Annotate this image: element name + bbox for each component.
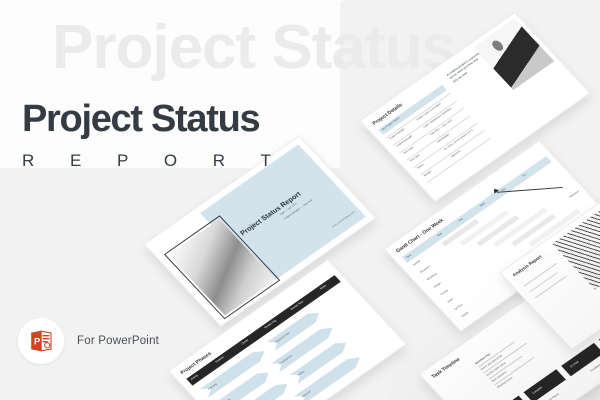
slide-title: Task Timeline [431,357,462,380]
timeline-dark-cell [486,396,528,400]
powerpoint-badge-label: For PowerPoint [77,335,159,347]
gantt-task-label: QA Test [454,303,464,311]
page-subtitle: R E P O R T [22,151,286,171]
divider [420,130,485,175]
callout-label: Milestone [569,190,581,199]
divider [427,137,492,182]
powerpoint-icon: P [18,318,64,364]
headline-block: Project Status R E P O R T [22,100,286,171]
gantt-task-label: Review [440,289,450,297]
template-preview-canvas: Project Status Project Details Your Proj… [0,0,600,400]
divider [529,272,558,292]
gantt-task-label: Kickoff [413,260,422,267]
page-title: Project Status [22,100,286,138]
powerpoint-badge[interactable]: P For PowerPoint [18,318,159,364]
gantt-task-label: Research [419,265,431,274]
gantt-task-label: Deliver [461,311,470,318]
svg-text:P: P [34,336,41,347]
timeline-column-label: Weekly Report [544,393,560,400]
timeline-column-label: Escalation Path [590,360,600,373]
divider [535,276,567,299]
gantt-task-label: Wireframe [426,272,438,282]
divider [413,123,478,168]
gantt-task-label: Design [433,282,442,289]
person-photo [473,18,554,90]
gantt-task-label: Build [447,298,454,304]
